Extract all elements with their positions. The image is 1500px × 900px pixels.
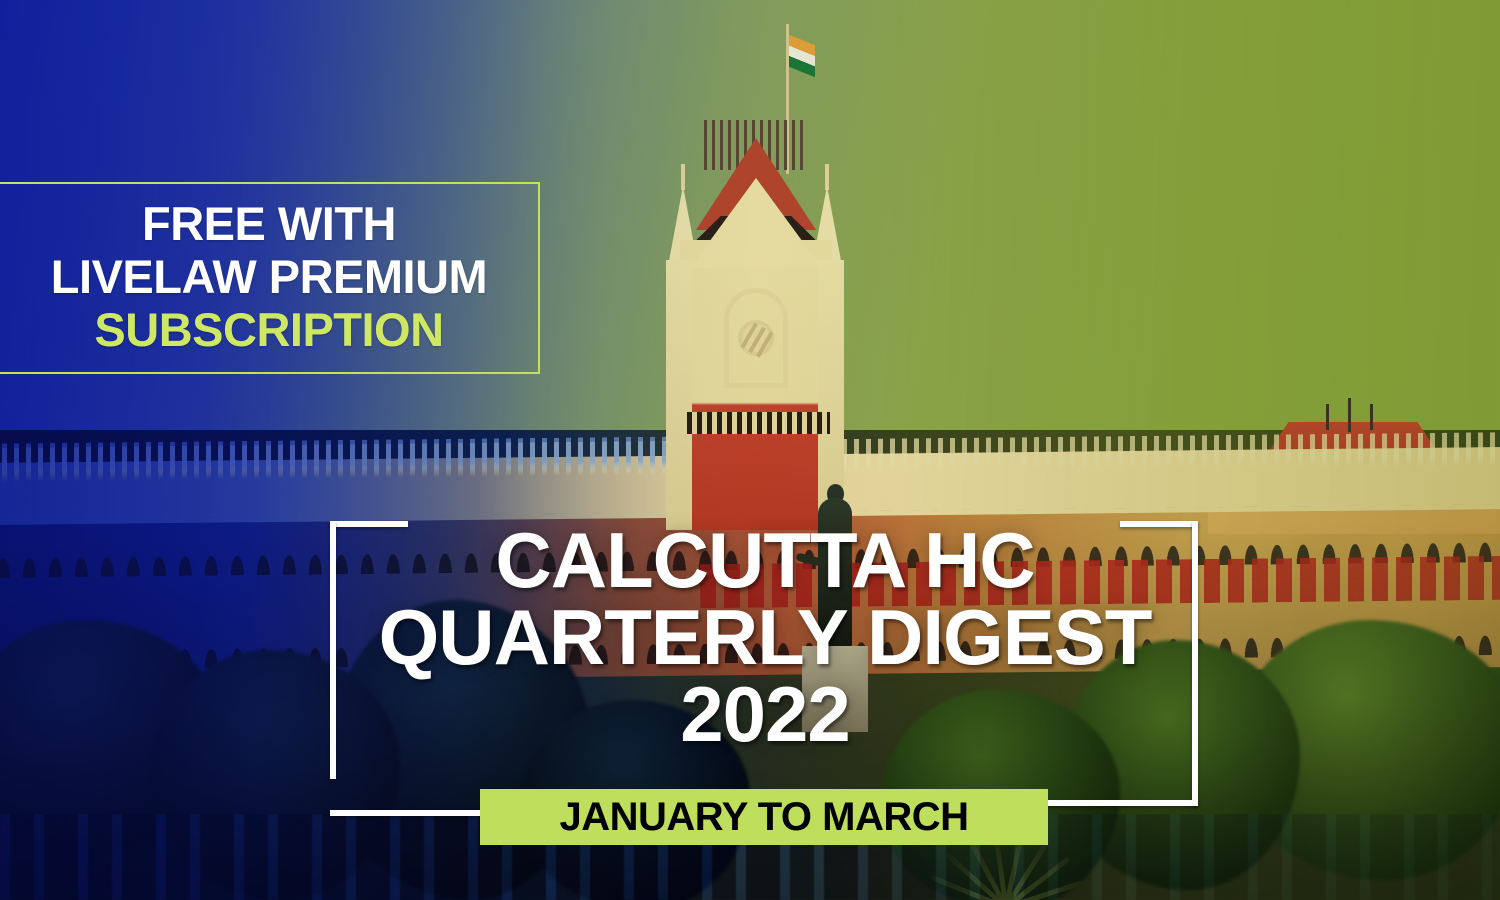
- badge-line-2: LIVELAW PREMIUM: [51, 253, 487, 300]
- poster: FREE WITH LIVELAW PREMIUM SUBSCRIPTION C…: [0, 0, 1500, 900]
- title-line-2: QUARTERLY DIGEST: [330, 600, 1200, 675]
- date-range-banner: JANUARY TO MARCH: [480, 789, 1048, 845]
- page-title: CALCUTTA HC QUARTERLY DIGEST 2022: [330, 523, 1200, 752]
- badge-line-1: FREE WITH: [142, 200, 396, 247]
- premium-badge: FREE WITH LIVELAW PREMIUM SUBSCRIPTION: [0, 182, 540, 374]
- title-line-1: CALCUTTA HC: [330, 523, 1200, 598]
- badge-line-3: SUBSCRIPTION: [94, 306, 443, 353]
- date-range-label: JANUARY TO MARCH: [559, 795, 968, 840]
- title-line-3: 2022: [330, 677, 1200, 752]
